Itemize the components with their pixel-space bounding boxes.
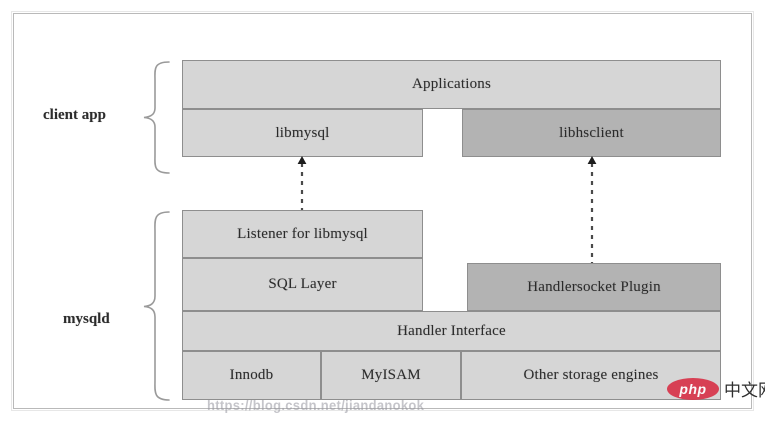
group-label-client-app: client app bbox=[43, 107, 106, 124]
diagram-frame: client app mysqld Applications libmysql … bbox=[13, 13, 752, 409]
box-libhsclient[interactable]: libhsclient bbox=[462, 109, 721, 157]
box-handlersocket-plugin[interactable]: Handlersocket Plugin bbox=[467, 263, 721, 311]
watermark-url: https://blog.csdn.net/jiandanokok bbox=[207, 398, 424, 414]
brace-mysqld bbox=[131, 210, 171, 402]
connector-libhsclient-to-handlersocket bbox=[585, 156, 599, 277]
watermark-php-suffix: 中文网 bbox=[724, 376, 765, 401]
box-sql-layer[interactable]: SQL Layer bbox=[182, 258, 423, 311]
group-label-mysqld: mysqld bbox=[63, 311, 110, 328]
watermark-php-logo: php 中文网 bbox=[667, 376, 765, 401]
diagram-canvas: client app mysqld Applications libmysql … bbox=[0, 0, 765, 424]
box-applications[interactable]: Applications bbox=[182, 60, 721, 109]
box-myisam[interactable]: MyISAM bbox=[321, 351, 461, 400]
box-handler-interface[interactable]: Handler Interface bbox=[182, 311, 721, 351]
watermark-php-pill: php bbox=[667, 378, 719, 400]
brace-client-app bbox=[131, 60, 171, 175]
box-innodb[interactable]: Innodb bbox=[182, 351, 321, 400]
box-libmysql[interactable]: libmysql bbox=[182, 109, 423, 157]
box-listener-for-libmysql[interactable]: Listener for libmysql bbox=[182, 210, 423, 258]
